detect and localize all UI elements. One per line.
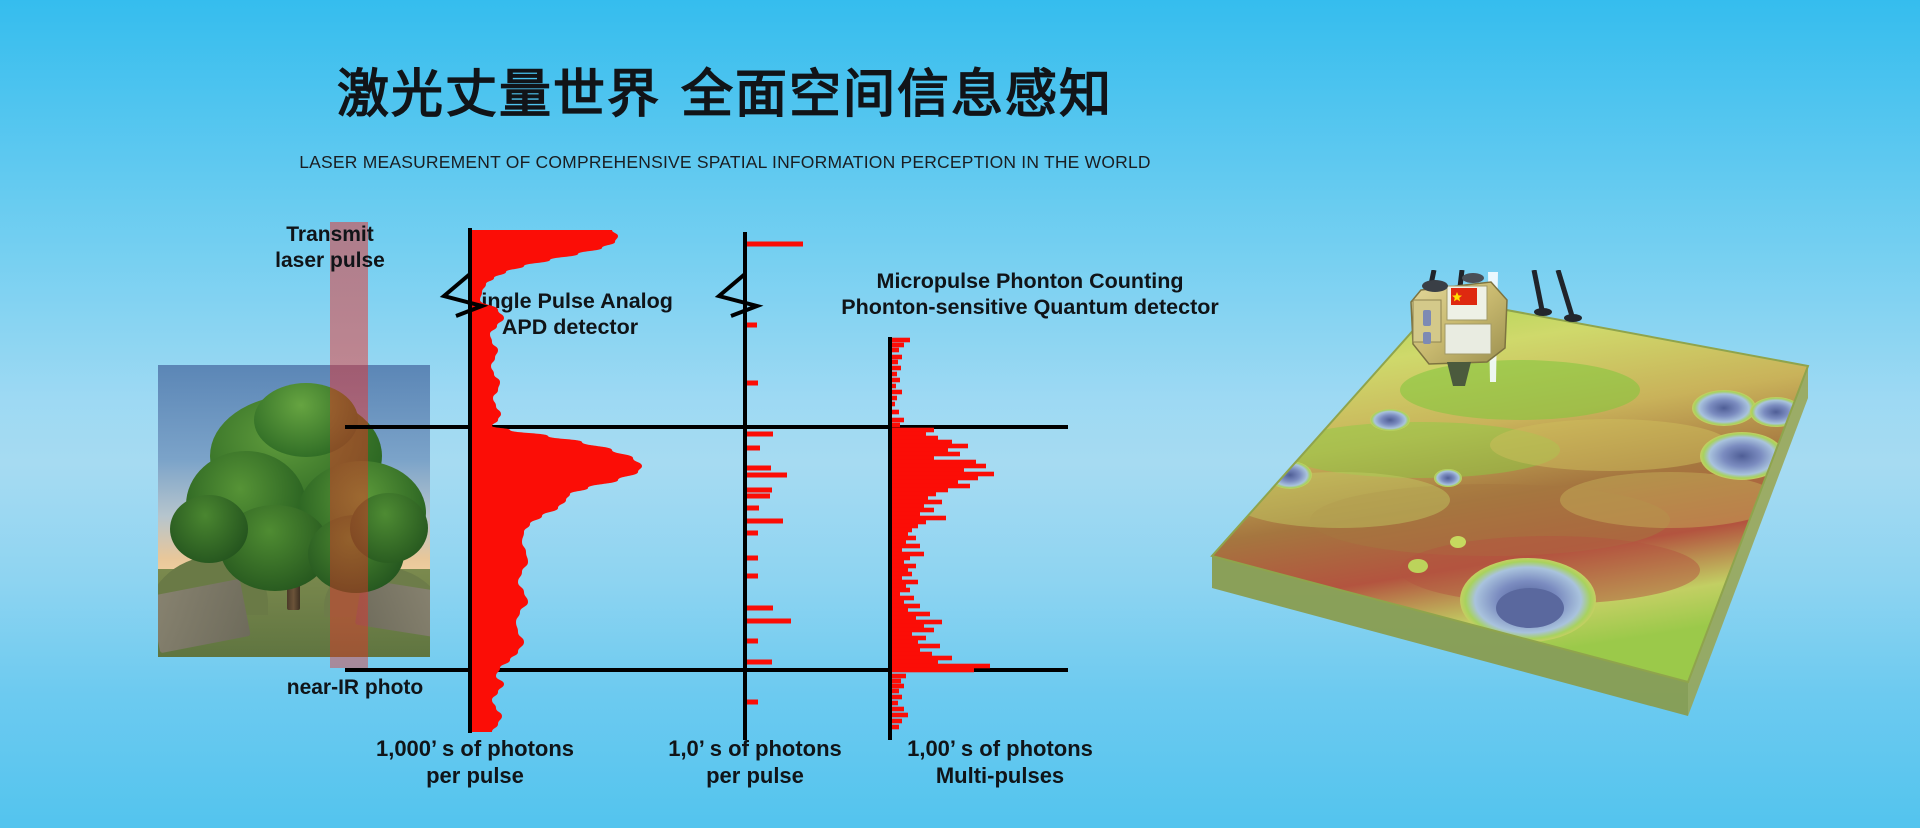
lander-nozzle xyxy=(1447,362,1471,386)
photon-count-bar xyxy=(890,636,926,641)
photon-count-bar xyxy=(890,713,908,718)
photon-count-bar xyxy=(890,456,934,461)
photon-count-bar xyxy=(890,436,938,441)
photon-count-bar xyxy=(890,580,918,585)
photon-count-bar xyxy=(890,418,904,423)
lander-instrument xyxy=(1423,332,1431,344)
photon-count-bar xyxy=(745,473,787,478)
photon-count-bar xyxy=(890,652,932,657)
photon-count-bar xyxy=(890,596,914,601)
photon-count-bar xyxy=(745,466,771,471)
photon-count-bar xyxy=(890,524,918,529)
photon-count-bar xyxy=(890,508,934,513)
photon-count-bar xyxy=(890,432,926,437)
photon-count-bar xyxy=(890,620,942,625)
photon-count-bar xyxy=(890,504,924,509)
photon-count-bar xyxy=(890,500,942,505)
photon-count-bar xyxy=(745,606,773,611)
analog-waveform-area xyxy=(470,230,642,732)
lander-footpad xyxy=(1564,314,1582,322)
photon-count-bar xyxy=(745,619,791,624)
photon-count-bar xyxy=(890,468,964,473)
lander-leg xyxy=(1558,270,1572,316)
photon-count-bar xyxy=(890,674,906,679)
photon-count-bar xyxy=(890,612,930,617)
photon-count-bar xyxy=(890,520,926,525)
photon-count-bar xyxy=(745,506,759,511)
photon-count-bar xyxy=(890,480,958,485)
photon-count-bar xyxy=(890,648,920,653)
photon-count-bar xyxy=(890,556,910,561)
photon-count-bar xyxy=(890,588,910,593)
photon-count-bar xyxy=(890,540,906,545)
photon-count-bar xyxy=(890,568,908,573)
waveform-single-pulse-analog xyxy=(444,228,642,733)
photon-count-bar xyxy=(890,640,918,645)
photon-count-bar xyxy=(890,532,908,537)
lunar-landing-scene xyxy=(1190,270,1830,750)
photon-count-bar xyxy=(890,488,948,493)
photon-count-bar xyxy=(745,242,803,247)
lander-panel xyxy=(1445,324,1491,354)
photon-count-bar xyxy=(745,494,770,499)
lander-footpad xyxy=(1534,308,1552,316)
photon-count-bar xyxy=(745,519,783,524)
crater xyxy=(1434,469,1462,487)
crater-large-floor xyxy=(1496,588,1564,628)
axis-break-symbol xyxy=(719,274,757,316)
photon-count-bar xyxy=(745,488,772,493)
photon-count-bar xyxy=(890,707,904,712)
photon-count-bar xyxy=(890,492,936,497)
photon-count-bar xyxy=(890,452,960,457)
crater xyxy=(1370,409,1410,431)
waveform-low-photon-count xyxy=(719,232,803,740)
poster-canvas: 激光丈量世界 全面空间信息感知 LASER MEASUREMENT OF COM… xyxy=(0,0,1920,828)
photon-count-bar xyxy=(890,628,934,633)
boulder xyxy=(1450,536,1466,548)
photon-count-bar xyxy=(890,528,912,533)
photon-count-bar xyxy=(890,544,920,549)
photon-count-bar xyxy=(890,428,934,433)
photon-count-bar xyxy=(890,440,952,445)
photon-count-bar xyxy=(890,668,974,673)
photon-count-bar xyxy=(745,660,772,665)
photon-count-bar xyxy=(890,496,928,501)
photon-count-bar xyxy=(890,464,986,469)
photon-count-bar xyxy=(890,600,904,605)
photon-count-bar xyxy=(890,343,904,348)
photon-count-bar xyxy=(890,444,968,449)
photon-count-bar xyxy=(890,512,920,517)
photon-count-bar xyxy=(890,472,994,477)
photon-count-bar xyxy=(890,448,948,453)
photon-count-bar xyxy=(890,604,920,609)
photon-count-bar xyxy=(745,432,773,437)
photon-count-bar xyxy=(890,560,904,565)
photon-count-bar xyxy=(890,684,904,689)
lunar-lander xyxy=(1395,270,1525,405)
photon-count-bar xyxy=(890,664,990,669)
photon-count-bar xyxy=(890,616,916,621)
photon-count-bar xyxy=(890,624,924,629)
lander-instrument xyxy=(1423,310,1431,326)
photon-count-bar xyxy=(890,608,908,613)
lander-leg xyxy=(1534,270,1542,310)
photon-count-bar xyxy=(890,484,970,489)
lander-antenna-dish xyxy=(1462,273,1484,283)
lander-antenna-dish xyxy=(1422,280,1448,292)
photon-count-bar xyxy=(890,660,938,665)
photon-count-bar xyxy=(890,516,946,521)
photon-count-bar xyxy=(890,552,924,557)
boulder xyxy=(1408,559,1428,573)
photon-count-bar xyxy=(890,572,912,577)
photon-count-bar xyxy=(890,632,912,637)
photon-count-bar xyxy=(890,564,916,569)
photon-count-bar xyxy=(890,536,916,541)
crater xyxy=(1692,390,1756,426)
photon-count-bar xyxy=(890,476,978,481)
photon-count-bar xyxy=(745,446,760,451)
photon-count-bar xyxy=(890,460,976,465)
waveform-micropulse-photon-counting xyxy=(890,337,994,740)
photon-count-bar xyxy=(890,656,952,661)
photon-count-bar xyxy=(890,644,940,649)
photon-count-bar xyxy=(890,338,910,343)
photon-count-bar xyxy=(890,584,906,589)
